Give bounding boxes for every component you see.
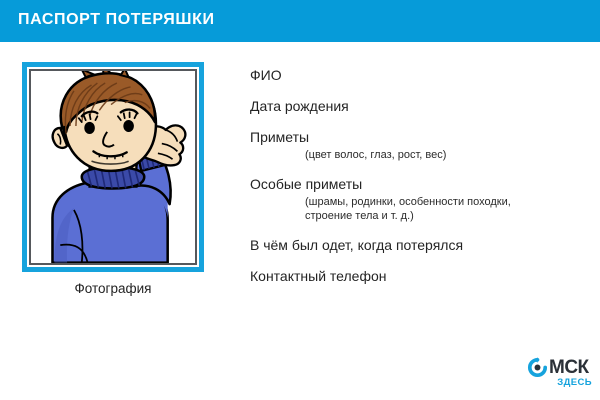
field-label: В чём был одет, когда потерялся bbox=[250, 236, 580, 254]
field-label: Дата рождения bbox=[250, 97, 580, 115]
field-label: ФИО bbox=[250, 66, 580, 84]
header-bar: ПАСПОРТ ПОТЕРЯШКИ bbox=[0, 0, 600, 42]
field-row-features: Приметы (цвет волос, глаз, рост, вес) bbox=[250, 128, 580, 162]
logo-name: МСК bbox=[549, 358, 589, 377]
page-title: ПАСПОРТ ПОТЕРЯШКИ bbox=[18, 11, 215, 29]
field-row-fio: ФИО bbox=[250, 66, 580, 84]
circular-arrow-icon bbox=[527, 357, 548, 378]
logo-mark-row: МСК bbox=[527, 356, 593, 378]
logo: МСК ЗДЕСЬ bbox=[527, 356, 593, 390]
field-row-contact-phone: Контактный телефон bbox=[250, 267, 580, 285]
field-row-special-features: Особые приметы (шрамы, родинки, особенно… bbox=[250, 175, 580, 223]
field-row-clothing: В чём был одет, когда потерялся bbox=[250, 236, 580, 254]
field-label: Особые приметы bbox=[250, 175, 580, 193]
boy-portrait-illustration bbox=[31, 71, 195, 263]
photo-frame-inner bbox=[29, 69, 197, 265]
field-label: Приметы bbox=[250, 128, 580, 146]
field-hint: строение тела и т. д.) bbox=[305, 209, 580, 223]
photo-block: Фотография bbox=[22, 62, 214, 296]
field-list: ФИО Дата рождения Приметы (цвет волос, г… bbox=[250, 66, 580, 298]
photo-frame bbox=[22, 62, 204, 272]
logo-tagline: ЗДЕСЬ bbox=[527, 377, 593, 388]
photo-caption: Фотография bbox=[22, 281, 204, 296]
field-hint: (шрамы, родинки, особенности походки, bbox=[305, 195, 580, 209]
field-label: Контактный телефон bbox=[250, 267, 580, 285]
field-hint: (цвет волос, глаз, рост, вес) bbox=[305, 148, 580, 162]
field-row-birthdate: Дата рождения bbox=[250, 97, 580, 115]
